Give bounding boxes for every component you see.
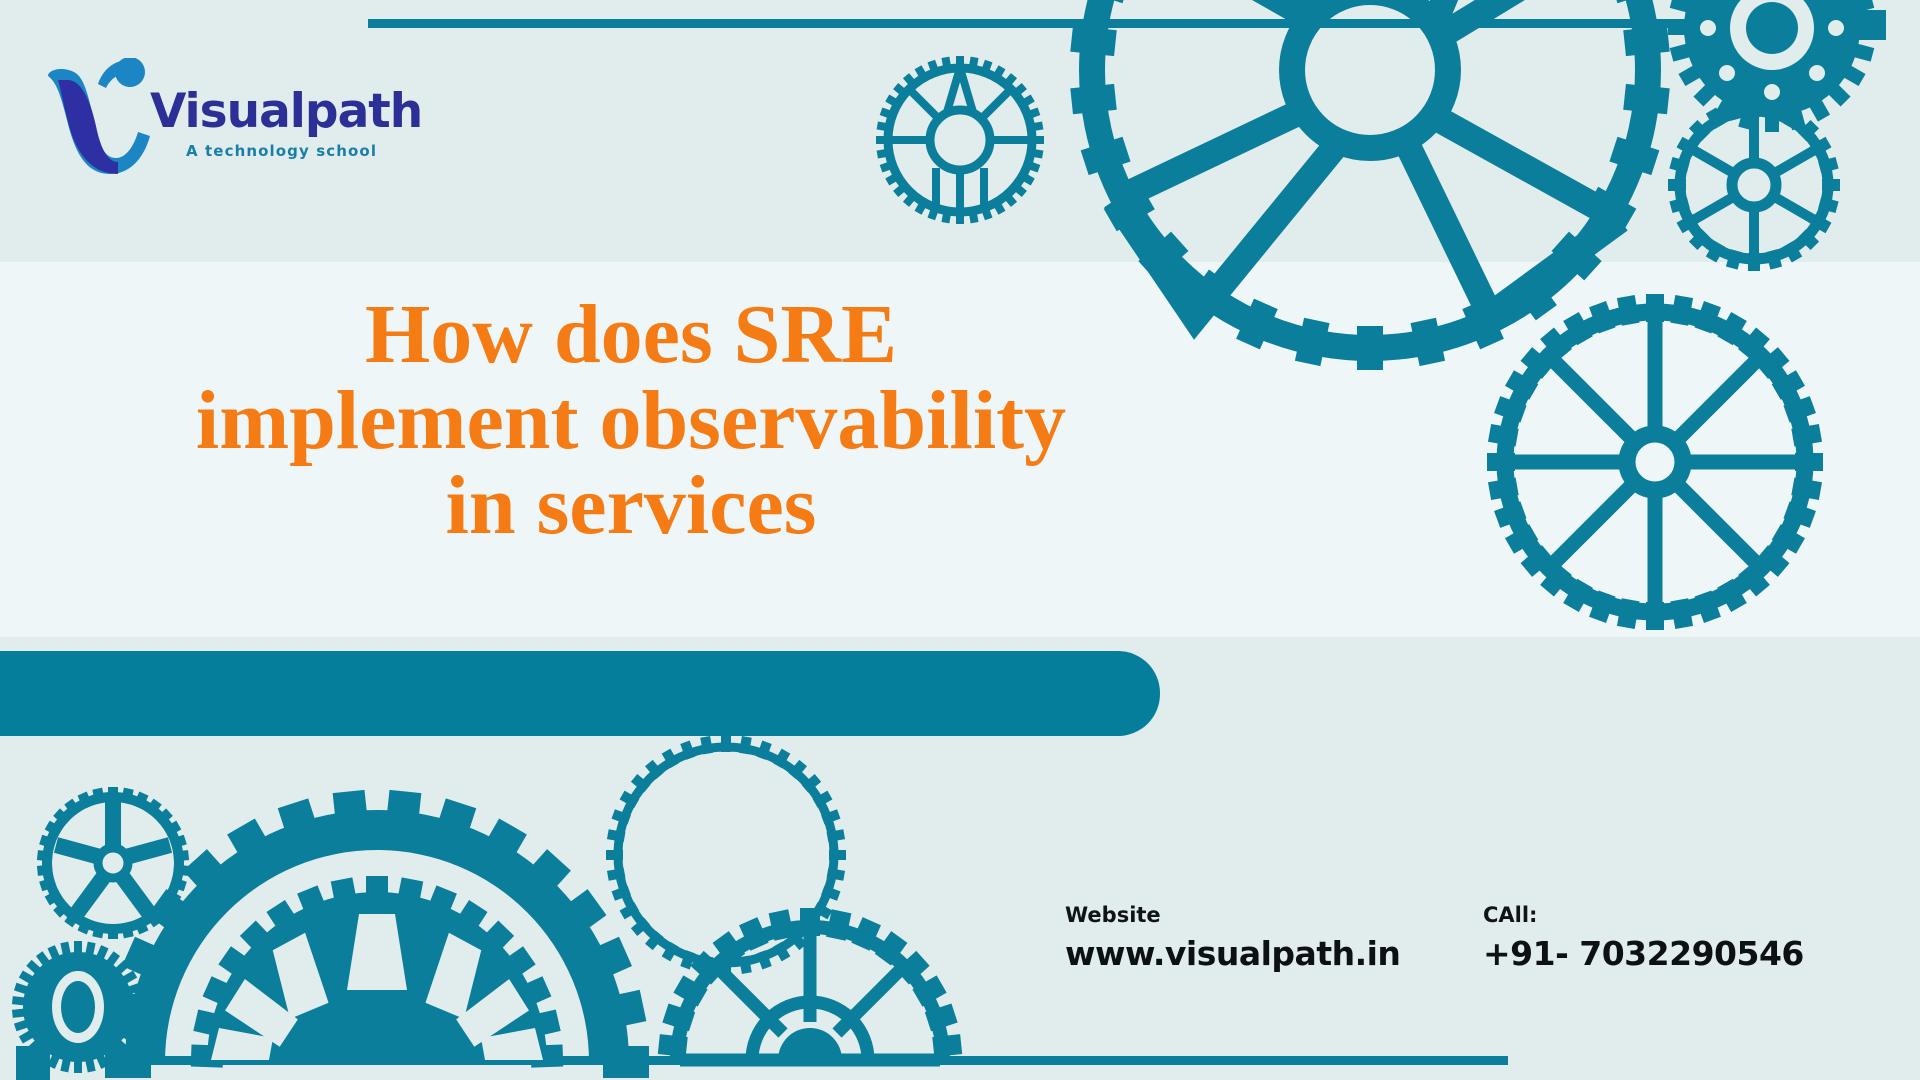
brand-logo[interactable]: Visualpath A technology school — [46, 58, 366, 178]
website-value[interactable]: www.visualpath.in — [1065, 936, 1400, 972]
website-label: Website — [1065, 905, 1400, 926]
website-group: Website www.visualpath.in — [1065, 905, 1400, 972]
page-title-line-2: implement observability — [26, 378, 1236, 464]
page-title-line-3: in services — [26, 463, 1236, 549]
visualpath-v-swoosh-icon — [46, 58, 154, 176]
call-label: CAll: — [1483, 905, 1804, 926]
teal-banner-bar — [0, 651, 1160, 736]
page-title: How does SRE implement observability in … — [26, 292, 1236, 549]
contact-block: Website www.visualpath.in CAll: +91- 703… — [1065, 905, 1885, 995]
brand-wordmark: Visualpath — [150, 88, 422, 135]
poster-canvas: Visualpath A technology school How does … — [0, 0, 1920, 1080]
brand-tagline: A technology school — [186, 142, 377, 160]
call-value[interactable]: +91- 7032290546 — [1483, 936, 1804, 972]
call-group: CAll: +91- 7032290546 — [1483, 905, 1804, 972]
page-title-line-1: How does SRE — [26, 292, 1236, 378]
